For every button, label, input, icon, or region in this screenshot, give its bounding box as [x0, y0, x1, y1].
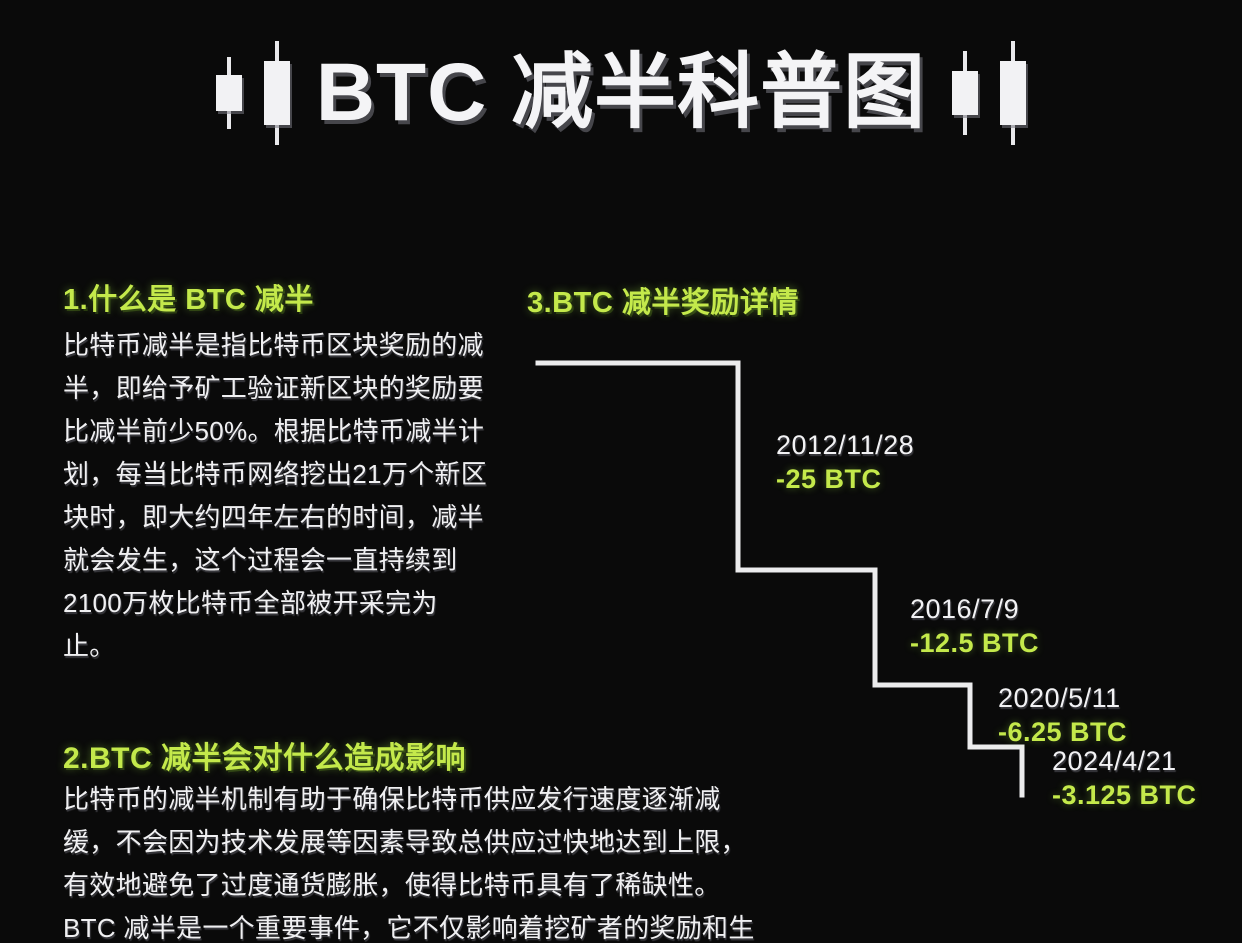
left-candlestick-group [216, 38, 290, 148]
section-1-heading: 1.什么是 BTC 减半 [63, 276, 314, 318]
halving-label-2012: 2012/11/28 -25 BTC [776, 428, 914, 496]
candlestick-small-icon [216, 75, 242, 111]
right-candlestick-group [952, 38, 1026, 148]
halving-date: 2020/5/11 [998, 681, 1127, 715]
halving-staircase-chart [520, 340, 1080, 820]
candlestick-mid-icon [952, 71, 978, 115]
halving-label-2024: 2024/4/21 -3.125 BTC [1052, 744, 1197, 812]
candlestick-body [264, 61, 290, 125]
halving-amount: -12.5 BTC [910, 626, 1039, 660]
candlestick-tall-icon [1000, 61, 1026, 125]
halving-date: 2012/11/28 [776, 428, 914, 462]
halving-amount: -25 BTC [776, 462, 914, 496]
title-bar: BTC 减半科普图 [0, 38, 1242, 148]
section-2-heading: 2.BTC 减半会对什么造成影响 [63, 733, 466, 777]
candlestick-body [216, 75, 242, 111]
halving-date: 2024/4/21 [1052, 744, 1197, 778]
candlestick-body [1000, 61, 1026, 125]
halving-amount: -3.125 BTC [1052, 778, 1197, 812]
section-3-heading: 3.BTC 减半奖励详情 [527, 279, 799, 321]
candlestick-body [952, 71, 978, 115]
candlestick-tall-icon [264, 61, 290, 125]
halving-label-2016: 2016/7/9 -12.5 BTC [910, 592, 1039, 660]
page-title: BTC 减半科普图 [316, 52, 926, 134]
halving-label-2020: 2020/5/11 -6.25 BTC [998, 681, 1127, 749]
infographic-page: BTC 减半科普图 1.什么是 BTC 减半 比特币减半是指比特币区块奖励的减半… [0, 0, 1242, 943]
section-1-body: 比特币减半是指比特币区块奖励的减半，即给予矿工验证新区块的奖励要比减半前少50%… [63, 324, 488, 668]
halving-date: 2016/7/9 [910, 592, 1039, 626]
